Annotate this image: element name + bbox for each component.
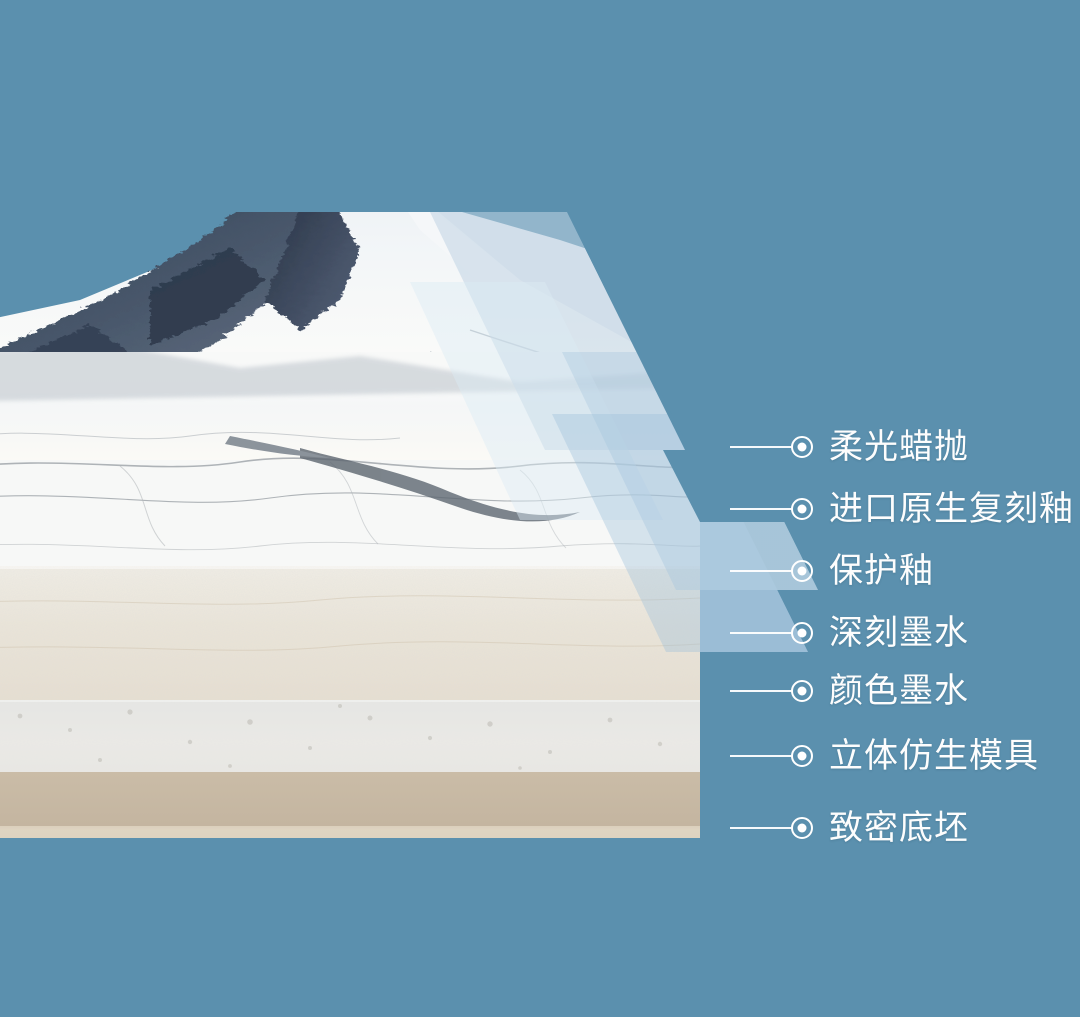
callout-list: 柔光蜡抛 进口原生复刻釉 保护釉 深刻墨水 颜色墨水 立体仿生模具 <box>0 0 1080 1017</box>
connector-line-4 <box>730 632 792 634</box>
callout-row-7[interactable]: 致密底坯 <box>730 806 969 850</box>
connector-line-7 <box>730 827 792 829</box>
layer-label-3: 保护釉 <box>829 554 934 588</box>
layer-label-4: 深刻墨水 <box>829 616 969 650</box>
target-dot-icon-5 <box>791 680 813 702</box>
layer-label-2: 进口原生复刻釉 <box>829 492 1074 526</box>
layer-label-5: 颜色墨水 <box>829 674 969 708</box>
target-dot-icon-6 <box>791 745 813 767</box>
connector-line-1 <box>730 446 792 448</box>
layer-label-6: 立体仿生模具 <box>829 739 1039 773</box>
callout-row-3[interactable]: 保护釉 <box>730 549 934 593</box>
target-dot-icon-1 <box>791 436 813 458</box>
callout-row-4[interactable]: 深刻墨水 <box>730 611 969 655</box>
connector-line-6 <box>730 755 792 757</box>
callout-row-5[interactable]: 颜色墨水 <box>730 669 969 713</box>
target-dot-icon-2 <box>791 498 813 520</box>
callout-row-6[interactable]: 立体仿生模具 <box>730 734 1039 778</box>
layer-label-7: 致密底坯 <box>829 811 969 845</box>
layer-label-1: 柔光蜡抛 <box>829 430 969 464</box>
callout-row-1[interactable]: 柔光蜡抛 <box>730 425 969 469</box>
connector-line-2 <box>730 508 792 510</box>
target-dot-icon-4 <box>791 622 813 644</box>
target-dot-icon-3 <box>791 560 813 582</box>
target-dot-icon-7 <box>791 817 813 839</box>
diagram-canvas: 柔光蜡抛 进口原生复刻釉 保护釉 深刻墨水 颜色墨水 立体仿生模具 <box>0 0 1080 1017</box>
connector-line-5 <box>730 690 792 692</box>
connector-line-3 <box>730 570 792 572</box>
callout-row-2[interactable]: 进口原生复刻釉 <box>730 487 1074 531</box>
